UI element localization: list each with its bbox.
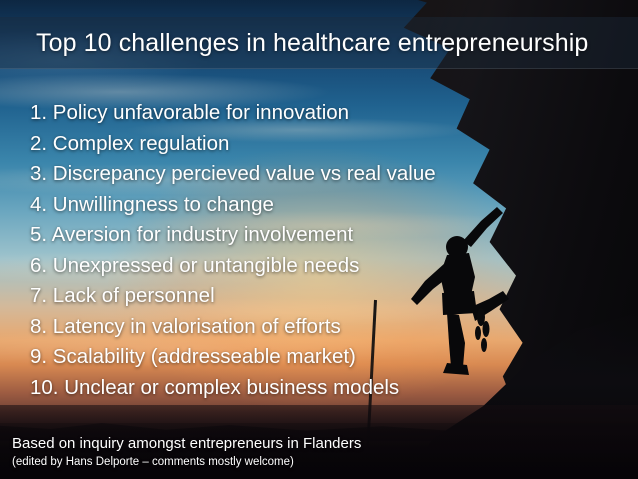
footer-source-text: Based on inquiry amongst entrepreneurs i… xyxy=(12,433,432,454)
list-item: 10. Unclear or complex business models xyxy=(30,373,500,404)
list-item: 2. Complex regulation xyxy=(30,129,500,160)
page-title: Top 10 challenges in healthcare entrepre… xyxy=(0,17,638,69)
list-item: 3. Discrepancy percieved value vs real v… xyxy=(30,159,500,190)
challenges-list: 1. Policy unfavorable for innovation 2. … xyxy=(30,98,500,403)
list-item: 7. Lack of personnel xyxy=(30,281,500,312)
list-item: 9. Scalability (addresseable market) xyxy=(30,342,500,373)
list-item: 6. Unexpressed or untangible needs xyxy=(30,251,500,282)
footer-note-text: (edited by Hans Delporte – comments most… xyxy=(12,454,432,471)
footer: Based on inquiry amongst entrepreneurs i… xyxy=(12,433,432,471)
list-item: 4. Unwillingness to change xyxy=(30,190,500,221)
list-item: 5. Aversion for industry involvement xyxy=(30,220,500,251)
list-item: 1. Policy unfavorable for innovation xyxy=(30,98,500,129)
list-item: 8. Latency in valorisation of efforts xyxy=(30,312,500,343)
slide: Top 10 challenges in healthcare entrepre… xyxy=(0,0,638,479)
